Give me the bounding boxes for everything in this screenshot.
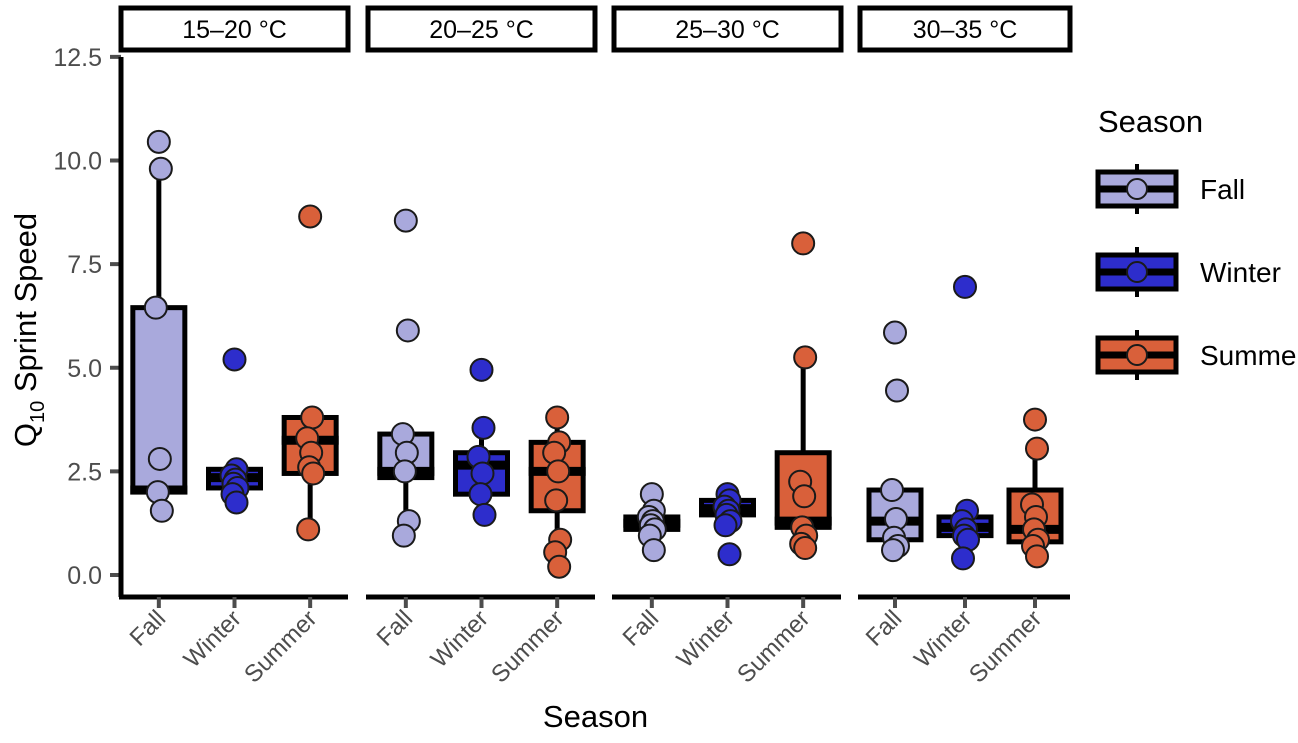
facet-strip-2: 20–25 °C <box>368 8 595 50</box>
data-point <box>226 491 248 513</box>
data-point <box>397 319 419 341</box>
data-point <box>1026 438 1048 460</box>
x-tick-label: Summer <box>239 605 322 688</box>
legend-item-fall[interactable]: Fall <box>1096 164 1245 214</box>
legend-item-label: Summer <box>1200 340 1298 371</box>
data-point <box>882 539 904 561</box>
box-group-winter <box>453 359 510 526</box>
boxplot-figure: 15–20 °C20–25 °C25–30 °C30–35 °C12.510.0… <box>0 0 1298 743</box>
data-point <box>546 406 568 428</box>
legend-key-point <box>1127 179 1147 199</box>
box-group-fall <box>130 131 187 522</box>
data-point <box>297 518 319 540</box>
facet-panel-3: FallWinterSummer <box>612 232 841 688</box>
data-point <box>473 417 495 439</box>
data-point <box>548 556 570 578</box>
box-group-winter <box>937 276 994 569</box>
data-point <box>470 483 492 505</box>
data-point <box>952 547 974 569</box>
x-tick-label: Winter <box>426 605 494 673</box>
data-point <box>792 232 814 254</box>
x-axis-title: Season <box>543 699 648 734</box>
y-tick-label: 12.5 <box>53 44 102 72</box>
data-point <box>150 158 172 180</box>
data-point <box>151 500 173 522</box>
box-group-summer <box>282 205 339 540</box>
data-point <box>224 348 246 370</box>
data-point <box>471 359 493 381</box>
box-group-summer <box>775 232 832 559</box>
y-axis-title: Q10 Sprint Speed <box>8 213 49 447</box>
y-tick-label: 2.5 <box>67 458 102 486</box>
data-point <box>145 297 167 319</box>
y-axis: 12.510.07.55.02.50.0 <box>53 44 121 597</box>
legend-key-point <box>1127 262 1147 282</box>
facet-strip-label: 15–20 °C <box>182 16 287 44</box>
data-point <box>954 276 976 298</box>
data-point <box>1024 409 1046 431</box>
y-axis-title-text: Q10 Sprint Speed <box>8 213 49 447</box>
data-point <box>545 489 567 511</box>
x-tick-label: Fall <box>861 605 907 651</box>
data-point <box>299 205 321 227</box>
box-group-fall <box>377 210 434 547</box>
data-point <box>394 460 416 482</box>
data-point <box>395 210 417 232</box>
legend: SeasonFallWinterSummer <box>1096 104 1298 380</box>
data-point <box>547 460 569 482</box>
legend-item-summer[interactable]: Summer <box>1096 330 1298 380</box>
x-tick-label: Summer <box>964 605 1047 688</box>
data-point <box>794 537 816 559</box>
data-point <box>474 504 496 526</box>
facet-strip-1: 15–20 °C <box>121 8 348 50</box>
facet-strip-3: 25–30 °C <box>614 8 841 50</box>
data-point <box>472 462 494 484</box>
box-group-summer <box>529 406 586 577</box>
box-group-fall <box>867 322 924 562</box>
data-point <box>393 525 415 547</box>
y-tick-label: 10.0 <box>53 148 102 176</box>
legend-key-point <box>1127 345 1147 365</box>
data-point <box>715 514 737 536</box>
y-tick-label: 7.5 <box>67 251 102 279</box>
facet-panel-4: FallWinterSummer <box>858 276 1070 688</box>
facet-strip-label: 30–35 °C <box>913 16 1018 44</box>
box-group-fall <box>623 483 680 561</box>
y-tick-label: 5.0 <box>67 355 102 383</box>
box-group-winter <box>699 483 756 565</box>
facet-strip-label: 20–25 °C <box>429 16 534 44</box>
x-tick-label: Fall <box>125 605 171 651</box>
legend-item-label: Fall <box>1200 174 1245 205</box>
box-group-winter <box>206 348 263 513</box>
legend-title: Season <box>1098 104 1203 139</box>
x-tick-label: Winter <box>909 605 977 673</box>
y-tick-label: 0.0 <box>67 562 102 590</box>
data-point <box>884 322 906 344</box>
x-tick-label: Fall <box>372 605 418 651</box>
x-tick-label: Summer <box>732 605 815 688</box>
data-point <box>793 485 815 507</box>
data-point <box>148 131 170 153</box>
x-tick-label: Winter <box>672 605 740 673</box>
x-tick-label: Fall <box>618 605 664 651</box>
facet-panel-2: FallWinterSummer <box>366 210 595 689</box>
data-point <box>1026 545 1048 567</box>
x-tick-label: Winter <box>179 605 247 673</box>
facet-strip-label: 25–30 °C <box>675 16 780 44</box>
data-point <box>643 539 665 561</box>
data-point <box>149 448 171 470</box>
x-tick-label: Summer <box>486 605 569 688</box>
data-point <box>886 380 908 402</box>
facet-panel-1: FallWinterSummer <box>119 131 348 689</box>
data-point <box>301 406 323 428</box>
legend-item-winter[interactable]: Winter <box>1096 247 1281 297</box>
data-point <box>302 462 324 484</box>
chart-canvas: 15–20 °C20–25 °C25–30 °C30–35 °C12.510.0… <box>0 0 1298 743</box>
box-group-summer <box>1007 409 1064 568</box>
facet-strip-4: 30–35 °C <box>860 8 1070 50</box>
data-point <box>881 479 903 501</box>
legend-item-label: Winter <box>1200 257 1281 288</box>
data-point <box>719 543 741 565</box>
data-point <box>794 346 816 368</box>
